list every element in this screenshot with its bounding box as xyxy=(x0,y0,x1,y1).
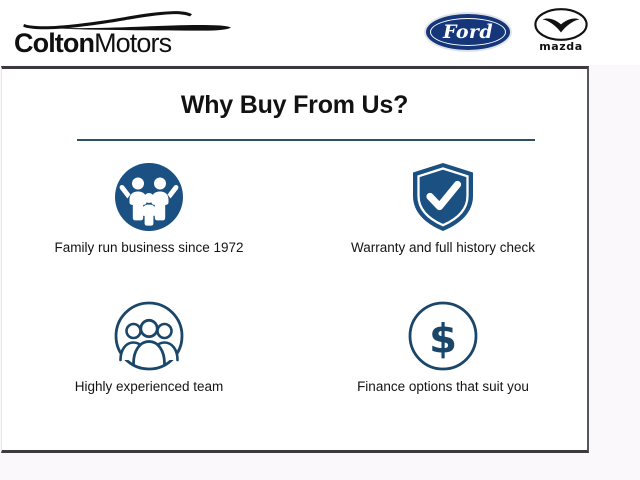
ford-oval-logo[interactable]: Ford xyxy=(424,12,512,52)
why-buy-panel: Why Buy From Us? xyxy=(1,66,589,453)
feature-label: Highly experienced team xyxy=(51,377,247,396)
mazda-logo-text: mazda xyxy=(528,40,594,53)
feature-grid: Family run business since 1972 Warranty … xyxy=(2,161,590,439)
title-divider xyxy=(77,139,535,141)
team-people-icon xyxy=(113,300,185,372)
shield-check-icon xyxy=(407,161,479,233)
dealer-logo-name-bold: Colton xyxy=(14,28,94,58)
feature-label: Warranty and full history check xyxy=(345,238,541,257)
dollar-circle-icon: $ xyxy=(407,300,479,372)
feature-item-warranty: Warranty and full history check xyxy=(296,161,590,300)
ford-logo-text: Ford xyxy=(424,12,512,52)
feature-item-family: Family run business since 1972 xyxy=(2,161,296,300)
feature-item-team: Highly experienced team xyxy=(2,300,296,439)
feature-item-finance: $ Finance options that suit you xyxy=(296,300,590,439)
svg-text:$: $ xyxy=(429,317,457,363)
feature-label: Family run business since 1972 xyxy=(51,238,247,257)
dealer-logo-text: ColtonMotors xyxy=(14,26,171,60)
dealer-logo-name-light: Motors xyxy=(94,28,171,58)
mazda-wings-icon xyxy=(534,8,588,41)
dealer-logo[interactable]: ColtonMotors xyxy=(14,6,244,62)
page-header: ColtonMotors Ford mazda xyxy=(0,0,640,65)
feature-label: Finance options that suit you xyxy=(345,377,541,396)
page-title: Why Buy From Us? xyxy=(2,91,587,120)
mazda-wings-logo[interactable]: mazda xyxy=(528,8,594,58)
family-group-icon xyxy=(113,161,185,233)
